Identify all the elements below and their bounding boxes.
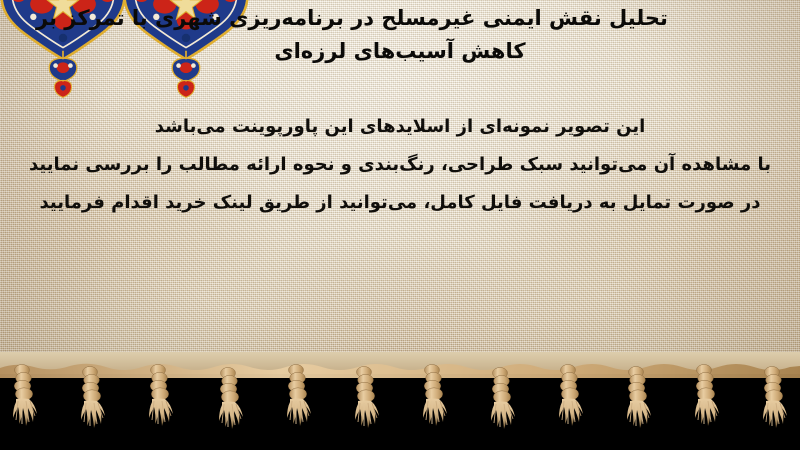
body-line-3: در صورت تمایل به دریافت فایل کامل، می‌تو…	[10, 184, 790, 222]
presentation-slide: تحلیل نقش ایمنی غیرمسلح در برنامه‌ریزی ش…	[0, 0, 800, 450]
canvas-bottom-edge	[0, 352, 800, 374]
slide-title: تحلیل نقش ایمنی غیرمسلح در برنامه‌ریزی ش…	[0, 2, 800, 68]
slide-body: این تصویر نمونه‌ای از اسلایدهای این پاور…	[0, 108, 800, 222]
slide-title-line-2: کاهش آسیب‌های لرزه‌ای	[14, 35, 786, 68]
body-line-2: با مشاهده آن می‌توانید سبک طراحی، رنگ‌بن…	[10, 146, 790, 184]
black-footer-band	[0, 366, 800, 450]
body-line-1: این تصویر نمونه‌ای از اسلایدهای این پاور…	[10, 108, 790, 146]
slide-title-line-1: تحلیل نقش ایمنی غیرمسلح در برنامه‌ریزی ش…	[14, 2, 786, 35]
